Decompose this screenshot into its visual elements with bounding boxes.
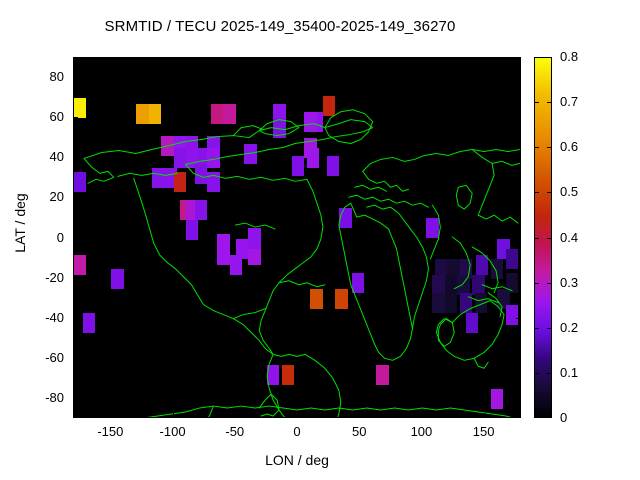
y-axis-title: LAT / deg xyxy=(12,143,28,303)
heatmap-cell xyxy=(491,259,503,279)
colorbar-tick-mark xyxy=(534,57,539,58)
x-tick-mark xyxy=(173,413,174,418)
x-tick-label: -150 xyxy=(80,424,140,439)
y-tick-label: 60 xyxy=(20,109,64,124)
x-tick-label: 0 xyxy=(267,424,327,439)
colorbar-tick-label: 0 xyxy=(560,410,610,425)
heatmap-cell xyxy=(248,228,260,248)
page-title: SRMTID / TECU 2025-149_35400-2025-149_36… xyxy=(0,18,560,35)
heatmap-cell xyxy=(174,172,186,192)
x-tick-mark xyxy=(235,57,236,62)
x-tick-mark xyxy=(110,413,111,418)
heatmap-cell xyxy=(472,275,484,295)
heatmap-cell xyxy=(445,275,457,295)
y-tick-label: -60 xyxy=(20,350,64,365)
heatmap-cell xyxy=(352,273,364,293)
heatmap-cell xyxy=(207,148,219,168)
heatmap-cell xyxy=(211,104,223,124)
y-tick-mark xyxy=(516,278,521,279)
x-tick-label: 100 xyxy=(391,424,451,439)
heatmap-cell xyxy=(476,255,488,275)
x-tick-label: -50 xyxy=(205,424,265,439)
heatmap-cell xyxy=(273,118,285,138)
colorbar-tick-mark xyxy=(547,147,552,148)
heatmap-cell xyxy=(282,365,294,385)
heatmap-cell xyxy=(149,104,161,124)
y-tick-mark xyxy=(516,197,521,198)
heatmap-cell xyxy=(74,172,86,192)
x-tick-label: 150 xyxy=(454,424,514,439)
colorbar-tick-mark xyxy=(534,102,539,103)
heatmap-cell xyxy=(207,172,219,192)
y-tick-mark xyxy=(73,278,78,279)
x-tick-mark xyxy=(235,413,236,418)
heatmap-cell xyxy=(304,112,316,132)
x-tick-label: 50 xyxy=(329,424,389,439)
x-tick-mark xyxy=(484,57,485,62)
heatmap-cell xyxy=(335,289,347,309)
heatmap-cell xyxy=(267,365,279,385)
heatmap-cell xyxy=(223,104,235,124)
heatmap-cell xyxy=(195,200,207,220)
y-tick-mark xyxy=(73,197,78,198)
heatmap-cell xyxy=(491,389,503,409)
y-tick-mark xyxy=(516,157,521,158)
y-tick-mark xyxy=(73,358,78,359)
heatmap-cell xyxy=(432,275,444,295)
heatmap-cell xyxy=(506,305,518,325)
y-tick-label: 80 xyxy=(20,69,64,84)
colorbar-tick-mark xyxy=(547,283,552,284)
heatmap-cell xyxy=(217,245,229,265)
colorbar-tick-mark xyxy=(534,417,539,418)
heatmap-cell xyxy=(244,144,256,164)
heatmap-cell xyxy=(426,218,438,238)
heatmap-cell xyxy=(83,313,95,333)
y-tick-label: -80 xyxy=(20,390,64,405)
heatmap-cell xyxy=(111,269,123,289)
heatmap-cell xyxy=(432,293,444,313)
y-tick-mark xyxy=(516,238,521,239)
x-tick-mark xyxy=(297,413,298,418)
colorbar-tick-mark xyxy=(547,417,552,418)
colorbar-tick-label: 0.7 xyxy=(560,94,610,109)
y-tick-mark xyxy=(73,77,78,78)
colorbar-tick-mark xyxy=(547,102,552,103)
y-tick-mark xyxy=(73,157,78,158)
x-tick-mark xyxy=(421,413,422,418)
heatmap-cell xyxy=(186,220,198,240)
heatmap-cell xyxy=(310,289,322,309)
y-tick-mark xyxy=(73,238,78,239)
heatmap-cell xyxy=(152,168,164,188)
y-tick-mark xyxy=(516,398,521,399)
colorbar-tick-label: 0.6 xyxy=(560,139,610,154)
colorbar-tick-mark xyxy=(534,238,539,239)
heatmap-cell xyxy=(292,156,304,176)
x-axis-title: LON / deg xyxy=(73,452,521,468)
heatmap-cell xyxy=(323,96,335,116)
colorbar-tick-label: 0.5 xyxy=(560,184,610,199)
heatmap-cell xyxy=(74,98,86,118)
colorbar-tick-mark xyxy=(547,328,552,329)
heatmap-cell xyxy=(74,255,86,275)
colorbar-tick-mark xyxy=(534,283,539,284)
heatmap-cell xyxy=(457,275,469,295)
x-tick-mark xyxy=(110,57,111,62)
heatmap-cell xyxy=(327,156,339,176)
colorbar-tick-mark xyxy=(547,57,552,58)
y-tick-mark xyxy=(73,117,78,118)
heatmap-cell xyxy=(307,148,319,168)
colorbar-tick-label: 0.2 xyxy=(560,320,610,335)
colorbar-tick-mark xyxy=(534,328,539,329)
colorbar-tick-label: 0.3 xyxy=(560,275,610,290)
heatmap-cell xyxy=(174,148,186,168)
heatmap-cells xyxy=(74,58,520,417)
x-tick-mark xyxy=(173,57,174,62)
heatmap-cell xyxy=(136,104,148,124)
heatmap-cell xyxy=(195,164,207,184)
y-tick-mark xyxy=(73,398,78,399)
x-tick-label: -100 xyxy=(143,424,203,439)
heatmap-cell xyxy=(460,293,472,313)
colorbar-tick-mark xyxy=(534,373,539,374)
heatmap-cell xyxy=(339,208,351,228)
colorbar-tick-mark xyxy=(534,192,539,193)
heatmap-cell xyxy=(230,255,242,275)
y-tick-mark xyxy=(516,318,521,319)
colorbar-tick-label: 0.1 xyxy=(560,365,610,380)
map-plot-area[interactable] xyxy=(73,57,521,418)
y-tick-mark xyxy=(516,358,521,359)
colorbar-tick-mark xyxy=(547,192,552,193)
x-tick-mark xyxy=(359,57,360,62)
colorbar-tick-mark xyxy=(534,147,539,148)
colorbar-tick-mark xyxy=(547,373,552,374)
x-tick-mark xyxy=(359,413,360,418)
x-tick-mark xyxy=(421,57,422,62)
x-tick-mark xyxy=(297,57,298,62)
heatmap-cell xyxy=(376,365,388,385)
heatmap-cell xyxy=(506,249,518,269)
heatmap-cell xyxy=(475,293,487,313)
heatmap-cell xyxy=(445,293,457,313)
colorbar-tick-label: 0.8 xyxy=(560,49,610,64)
x-tick-mark xyxy=(484,413,485,418)
colorbar-tick-label: 0.4 xyxy=(560,230,610,245)
y-tick-mark xyxy=(516,77,521,78)
plot-root: SRMTID / TECU 2025-149_35400-2025-149_36… xyxy=(0,0,640,480)
heatmap-cell xyxy=(466,313,478,333)
heatmap-cell xyxy=(161,136,173,156)
y-tick-mark xyxy=(516,117,521,118)
y-tick-label: -40 xyxy=(20,310,64,325)
colorbar-tick-mark xyxy=(547,238,552,239)
y-tick-mark xyxy=(73,318,78,319)
